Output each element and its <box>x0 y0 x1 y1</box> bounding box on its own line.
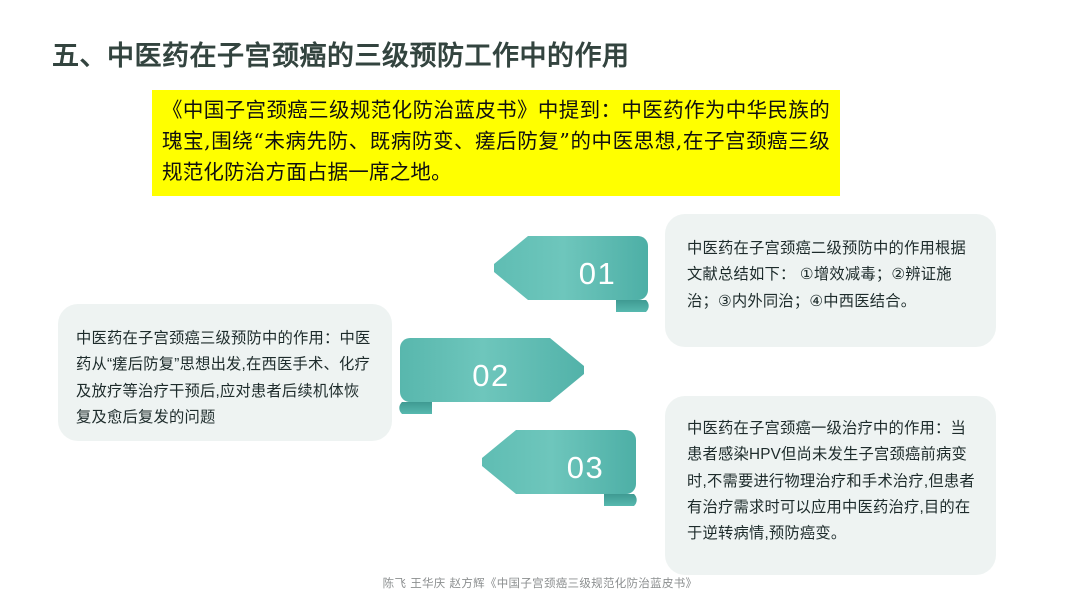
step-ribbon-01[interactable]: 01 <box>494 236 649 312</box>
step-card-02-text: 中医药在子宫颈癌三级预防中的作用：中医药从“瘥后防复”思想出发,在西医手术、化疗… <box>76 330 370 426</box>
step-card-03-text: 中医药在子宫颈癌一级治疗中的作用：当患者感染HPV但尚未发生子宫颈癌前病变时,不… <box>687 420 975 542</box>
footer-credit: 陈飞 王华庆 赵方辉《中国子宫颈癌三级规范化防治蓝皮书》 <box>0 575 1080 591</box>
page-title: 五、中医药在子宫颈癌的三级预防工作中的作用 <box>52 40 630 72</box>
ribbon-right-arrow-icon <box>398 338 584 414</box>
step-card-02: 中医药在子宫颈癌三级预防中的作用：中医药从“瘥后防复”思想出发,在西医手术、化疗… <box>58 304 392 441</box>
highlight-paragraph: 《中国子宫颈癌三级规范化防治蓝皮书》中提到：中医药作为中华民族的瑰宝,围绕“未病… <box>152 90 840 196</box>
ribbon-left-arrow-icon <box>494 236 649 312</box>
slide-canvas: 五、中医药在子宫颈癌的三级预防工作中的作用 《中国子宫颈癌三级规范化防治蓝皮书》… <box>0 0 1080 608</box>
step-card-03: 中医药在子宫颈癌一级治疗中的作用：当患者感染HPV但尚未发生子宫颈癌前病变时,不… <box>665 396 996 575</box>
step-card-01-text: 中医药在子宫颈癌二级预防中的作用根据文献总结如下： ①增效减毒；②辨证施治；③内… <box>687 240 966 310</box>
step-ribbon-03[interactable]: 03 <box>482 430 637 506</box>
ribbon-left-arrow-icon <box>482 430 637 506</box>
step-card-01: 中医药在子宫颈癌二级预防中的作用根据文献总结如下： ①增效减毒；②辨证施治；③内… <box>665 214 996 347</box>
step-ribbon-02[interactable]: 02 <box>398 338 584 414</box>
